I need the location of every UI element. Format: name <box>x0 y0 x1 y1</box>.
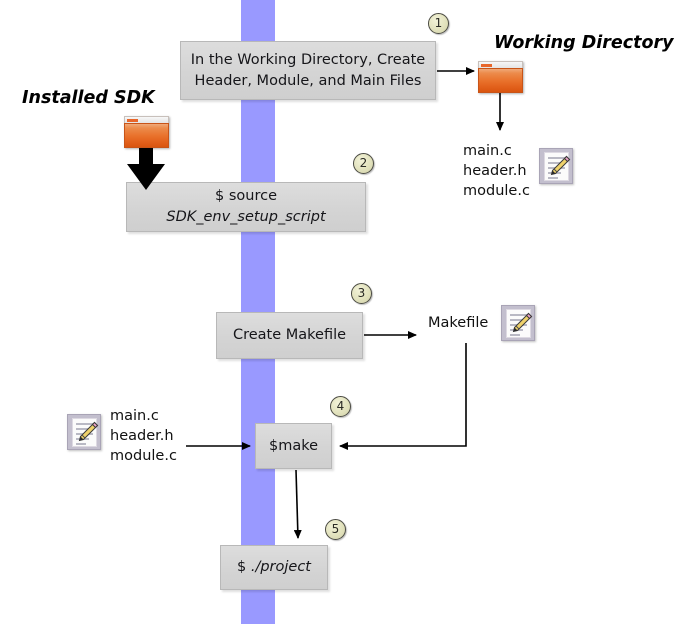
heading-working-directory: Working Directory <box>494 33 674 53</box>
file-list-working-directory: main.c header.h module.c <box>463 141 530 201</box>
file-list-source-inputs: main.c header.h module.c <box>110 406 177 466</box>
box-create-files-line1: In the Working Directory, Create <box>191 52 425 68</box>
window-body <box>124 123 169 148</box>
window-titlebar <box>478 61 523 68</box>
step-badge-1: 1 <box>428 13 449 34</box>
pencil-icon <box>547 155 571 179</box>
box-create-makefile[interactable]: Create Makefile <box>216 312 363 359</box>
window-titlebar <box>124 116 169 123</box>
box-source-prefix: $ source <box>215 188 277 204</box>
notepad-pencil-icon-sources <box>67 414 101 450</box>
box-source-script-name: SDK_env_setup_script <box>166 209 325 225</box>
box-create-files-line2: Header, Module, and Main Files <box>195 73 422 89</box>
label-makefile: Makefile <box>428 313 488 333</box>
step-badge-5: 5 <box>325 519 346 540</box>
pencil-icon <box>509 312 533 336</box>
step-badge-4: 4 <box>330 396 351 417</box>
box-create-files[interactable]: In the Working Directory, Create Header,… <box>180 41 436 100</box>
box-run-project[interactable]: $ ./project <box>220 545 328 590</box>
heading-installed-sdk: Installed SDK <box>22 88 155 108</box>
box-run-project-path: ./project <box>251 559 311 575</box>
notepad-pencil-icon-makefile <box>501 305 535 341</box>
orange-window-icon-sdk <box>124 116 169 148</box>
window-body <box>478 68 523 93</box>
box-create-makefile-label: Create Makefile <box>225 325 354 346</box>
box-source-sdk-script[interactable]: $ source SDK_env_setup_script <box>126 182 366 232</box>
orange-window-icon-working-directory <box>478 61 523 93</box>
step-badge-2: 2 <box>353 153 374 174</box>
box-make-label: $make <box>261 436 326 457</box>
pencil-icon <box>75 421 99 445</box>
step-badge-3: 3 <box>351 283 372 304</box>
box-make-command[interactable]: $make <box>255 423 332 469</box>
box-run-project-prefix: $ <box>237 559 251 575</box>
diagram-canvas: In the Working Directory, Create Header,… <box>0 0 687 624</box>
notepad-pencil-icon-working-directory <box>539 148 573 184</box>
